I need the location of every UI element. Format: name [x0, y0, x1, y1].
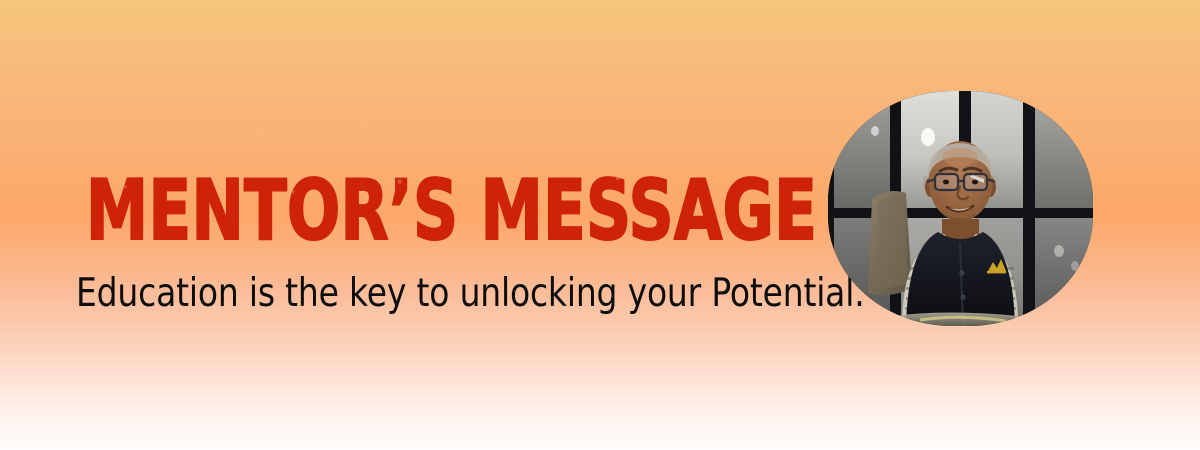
- banner-subtitle: Education is the key to unlocking your P…: [76, 271, 865, 317]
- mentor-portrait: [828, 91, 1093, 326]
- page-title: MENTOR’S MESSAGE: [86, 170, 817, 253]
- mentor-portrait-illustration: [828, 91, 1093, 326]
- mentors-message-banner: MENTOR’S MESSAGE Education is the key to…: [0, 0, 1200, 450]
